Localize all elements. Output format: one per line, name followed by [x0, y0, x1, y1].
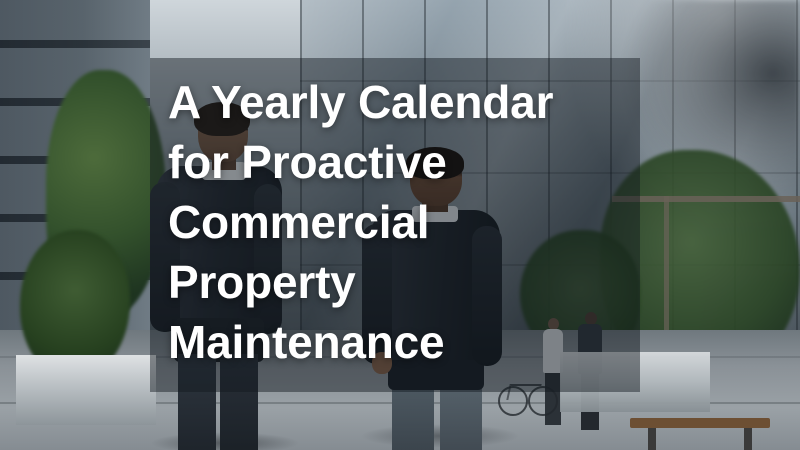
planter-box-left: [16, 355, 156, 425]
pergola-post: [664, 196, 669, 346]
wooden-bench: [630, 418, 770, 428]
left-leg: [392, 382, 434, 450]
bench-leg-left: [648, 428, 656, 450]
headline-line-1: A Yearly Calendar: [168, 72, 638, 132]
headline-line-3: Commercial: [168, 192, 638, 252]
headline-line-4: Property: [168, 252, 638, 312]
bench-leg-right: [744, 428, 752, 450]
hero-image: A Yearly Calendar for Proactive Commerci…: [0, 0, 800, 450]
pergola-beam: [612, 196, 800, 202]
page-title: A Yearly Calendar for Proactive Commerci…: [168, 72, 638, 372]
headline-line-5: Maintenance: [168, 312, 638, 372]
headline-line-2: for Proactive: [168, 132, 638, 192]
right-leg: [440, 382, 482, 450]
